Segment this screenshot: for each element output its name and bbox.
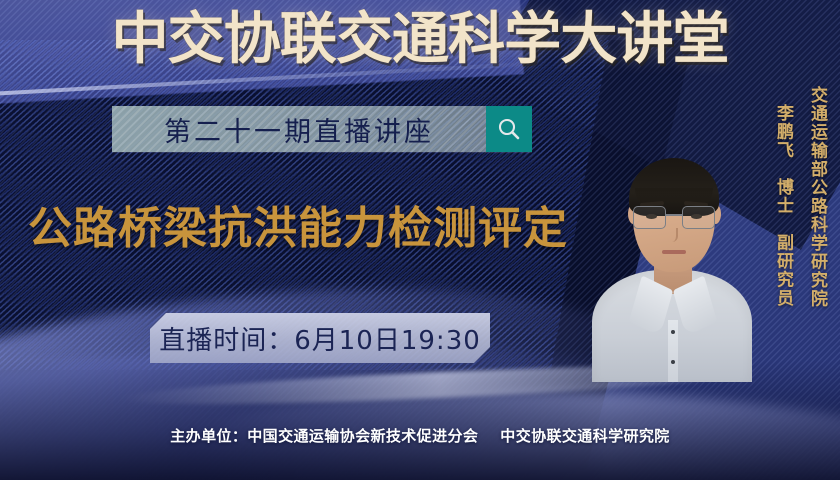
shirt-button-lower (671, 360, 675, 364)
footer-organizer: 主办单位：中国交通运输协会新技术促进分会 (170, 427, 478, 445)
page-title: 中交协联交通科学大讲堂 (0, 12, 840, 68)
speaker-organization: 交通运输部公路科学研究院 (805, 86, 830, 308)
schedule-label: 直播时间：6月10日19:30 (159, 320, 481, 357)
search-icon (496, 116, 522, 142)
glasses-lens-right (682, 206, 715, 229)
footer-co-organizer: 中交协联交通科学研究院 (500, 427, 669, 445)
schedule-banner: 直播时间：6月10日19:30 (150, 313, 490, 363)
speaker-photo (588, 132, 756, 382)
mouth (662, 250, 686, 254)
speaker-name-title: 李鹏飞 博士 副研究员 (771, 104, 796, 308)
glasses-lens-left (633, 206, 666, 229)
lecture-headline: 公路桥梁抗洪能力检测评定 (28, 205, 568, 253)
subtitle-bar: 第二十一期直播讲座 (112, 106, 532, 152)
footer: 主办单位：中国交通运输协会新技术促进分会中交协联交通科学研究院 (0, 425, 840, 446)
speaker-portrait-illustration (588, 132, 756, 382)
shirt-button-upper (671, 330, 675, 334)
subtitle-label: 第二十一期直播讲座 (164, 110, 434, 149)
glasses-bridge (666, 214, 682, 216)
glasses-icon (632, 206, 716, 230)
promo-poster: 中交协联交通科学大讲堂 第二十一期直播讲座 公路桥梁抗洪能力检测评定 直播时间：… (0, 0, 840, 480)
subtitle-bar-fill: 第二十一期直播讲座 (112, 106, 486, 152)
search-icon-box[interactable] (486, 106, 532, 152)
